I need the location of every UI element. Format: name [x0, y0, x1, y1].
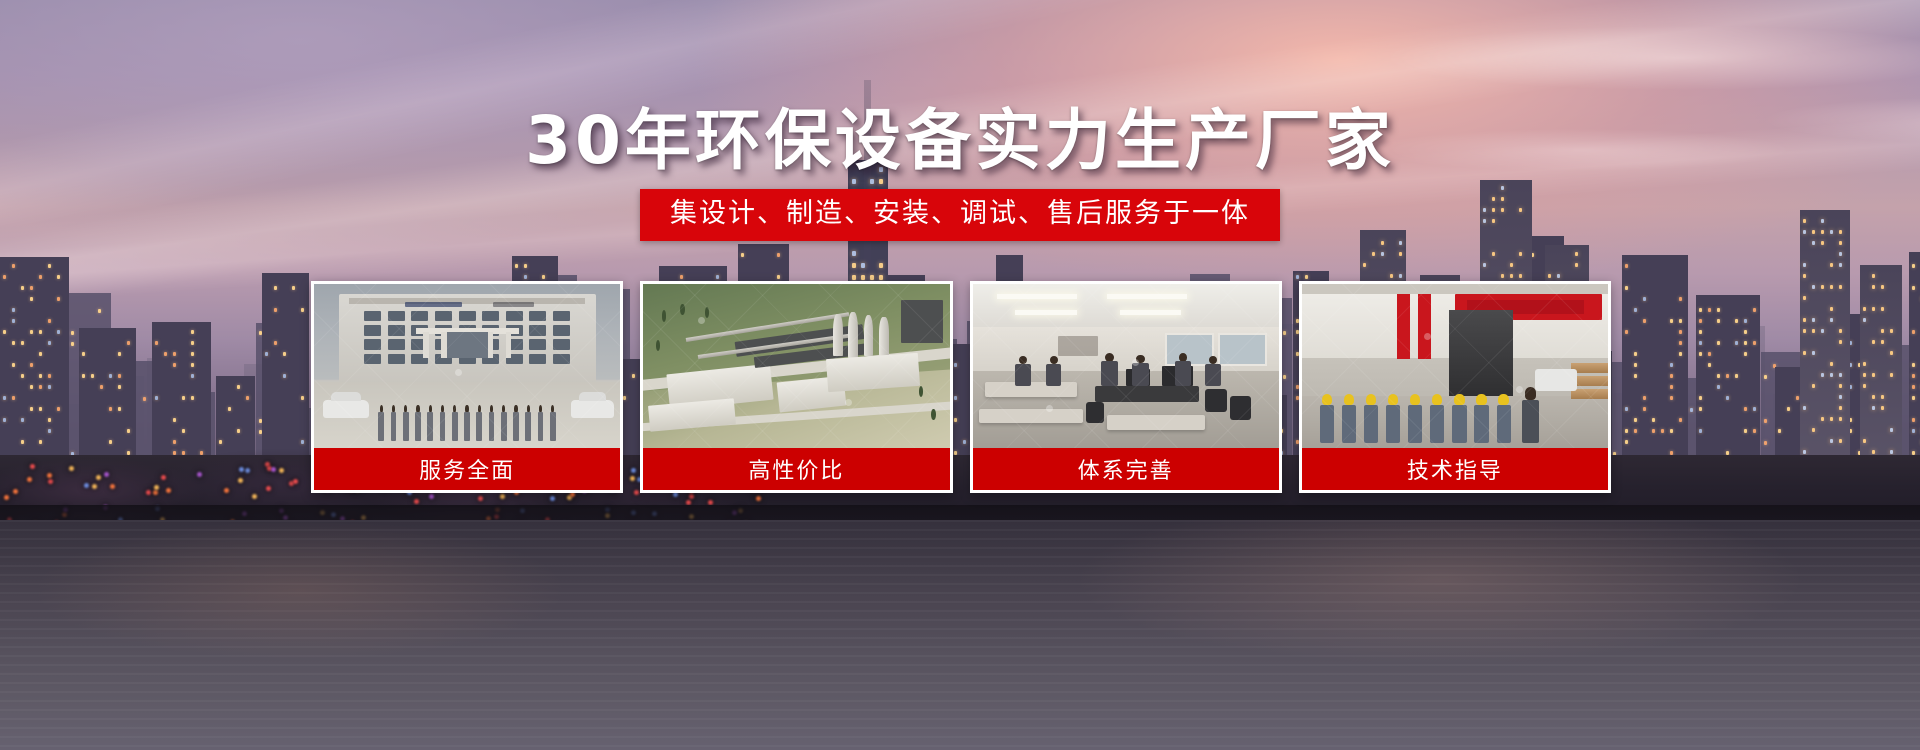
card-photo-factory-entrance: [1302, 284, 1608, 448]
card-caption: 高性价比: [643, 448, 949, 490]
page-title: 30年环保设备实力生产厂家: [0, 100, 1920, 183]
card-caption: 体系完善: [973, 448, 1279, 490]
card-caption: 服务全面: [314, 448, 620, 490]
feature-card[interactable]: 服务全面: [311, 281, 623, 493]
feature-card[interactable]: 高性价比: [640, 281, 952, 493]
card-photo-aerial-plant: [643, 284, 949, 448]
card-caption: 技术指导: [1302, 448, 1608, 490]
card-photo-office-interior: [973, 284, 1279, 448]
subtitle-badge: 集设计、制造、安装、调试、售后服务于一体: [640, 189, 1280, 241]
hero-banner: 30年环保设备实力生产厂家 集设计、制造、安装、调试、售后服务于一体: [0, 0, 1920, 750]
feature-card[interactable]: 技术指导: [1299, 281, 1611, 493]
banner-content: 30年环保设备实力生产厂家 集设计、制造、安装、调试、售后服务于一体: [0, 0, 1920, 750]
feature-card[interactable]: 体系完善: [970, 281, 1282, 493]
card-photo-office-building: [314, 284, 620, 448]
feature-card-list: 服务全面: [311, 281, 1611, 493]
subtitle-wrap: 集设计、制造、安装、调试、售后服务于一体: [0, 189, 1920, 241]
